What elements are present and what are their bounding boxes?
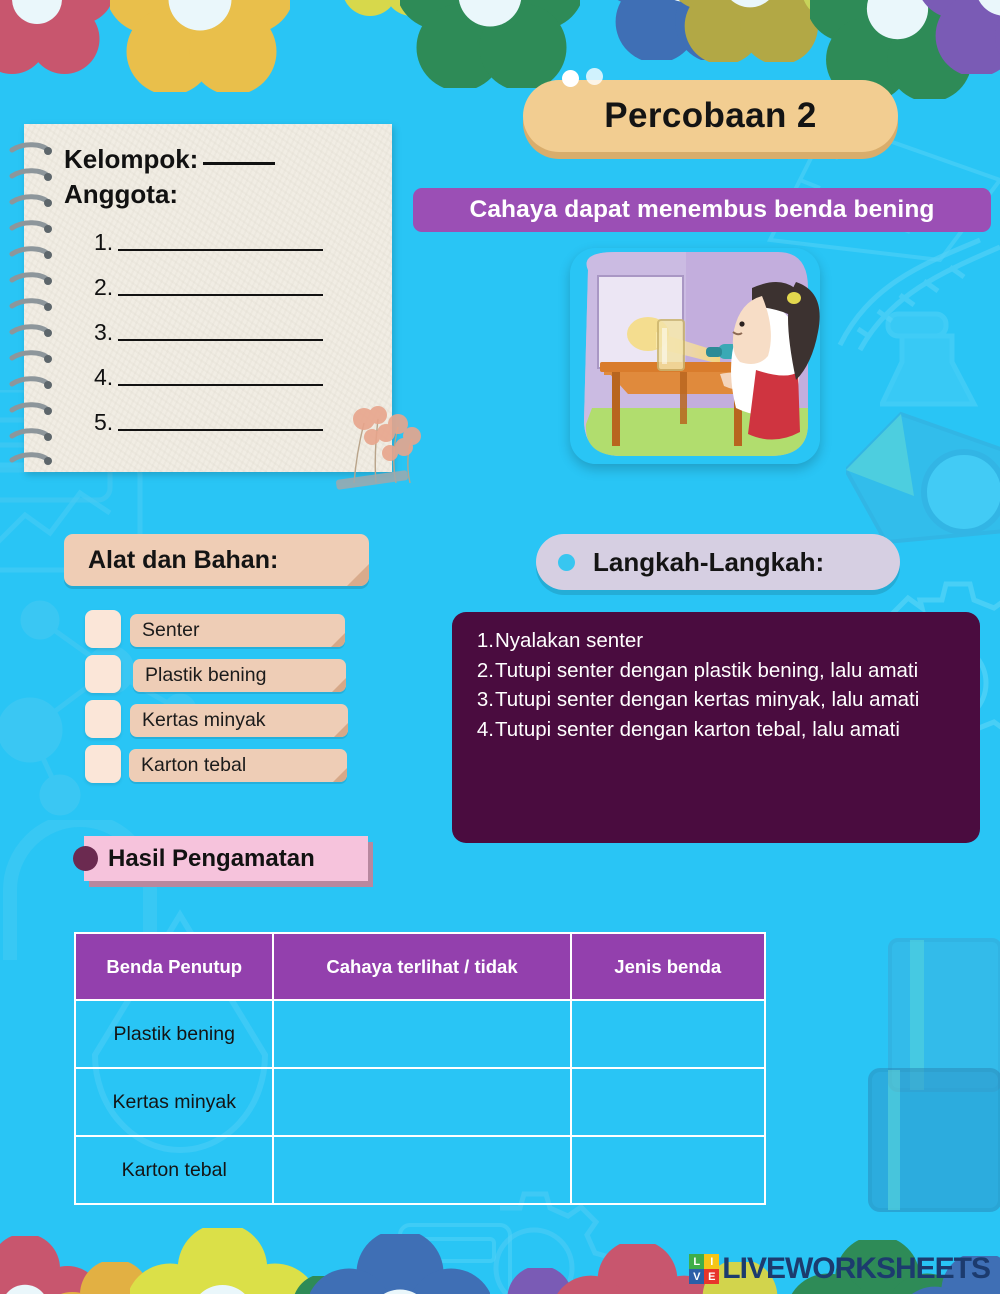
step-text: Tutupi senter dengan plastik bening, lal…	[495, 656, 962, 686]
watermark-notebook-right	[860, 1050, 1000, 1230]
corner-fold-icon	[347, 564, 369, 586]
step-number: 1.	[468, 626, 494, 656]
material-item-kertas-minyak[interactable]: Kertas minyak	[85, 698, 365, 742]
material-label: Karton tebal	[141, 754, 246, 777]
liveworksheets-logo: L I V E LIVEWORKSHEETS	[689, 1252, 990, 1286]
material-label: Plastik bening	[145, 664, 266, 687]
checkbox-icon[interactable]	[85, 745, 121, 783]
cell-jenis-input[interactable]	[571, 1068, 765, 1136]
cell-benda-penutup: Kertas minyak	[75, 1068, 273, 1136]
watermark-calculator-bottom	[390, 1215, 530, 1294]
table-row: Plastik bening	[75, 1000, 765, 1068]
materials-header: Alat dan Bahan:	[64, 534, 369, 586]
step-number: 3.	[468, 685, 494, 715]
table-row: Karton tebal	[75, 1136, 765, 1204]
observation-header-text: Hasil Pengamatan	[108, 845, 315, 873]
checkbox-icon[interactable]	[85, 655, 121, 693]
step-item-1: 1. Nyalakan senter	[468, 626, 962, 656]
dried-flower-decoration	[320, 383, 430, 498]
materials-header-text: Alat dan Bahan:	[88, 546, 278, 575]
watermark-book	[870, 930, 1000, 1110]
page-title: Percobaan 2	[523, 80, 898, 152]
column-header-jenis-benda: Jenis benda	[571, 933, 765, 1000]
observation-table: Benda Penutup Cahaya terlihat / tidak Je…	[74, 932, 766, 1205]
kelompok-blank[interactable]	[203, 162, 275, 165]
member-number-3: 3.	[94, 319, 118, 346]
watermark-gear-bottom	[430, 1190, 640, 1294]
material-item-karton-tebal[interactable]: Karton tebal	[85, 743, 365, 787]
flower-border-top	[0, 0, 1000, 92]
title-decoration-dot-2	[586, 68, 603, 85]
logo-tile-v: V	[689, 1269, 704, 1284]
member-blank-5[interactable]	[118, 429, 323, 431]
member-blank-2[interactable]	[118, 294, 323, 296]
step-number: 2.	[468, 656, 494, 686]
table-row: Kertas minyak	[75, 1068, 765, 1136]
member-number-5: 5.	[94, 409, 118, 436]
steps-header: Langkah-Langkah:	[536, 534, 900, 590]
member-number-4: 4.	[94, 364, 118, 391]
member-blank-3[interactable]	[118, 339, 323, 341]
logo-tile-l: L	[689, 1254, 704, 1269]
material-label: Senter	[142, 619, 199, 642]
material-label-pill: Kertas minyak	[130, 704, 348, 737]
step-text: Tutupi senter dengan kertas minyak, lalu…	[495, 685, 962, 715]
step-text: Nyalakan senter	[495, 626, 962, 656]
cell-cahaya-input[interactable]	[273, 1068, 570, 1136]
checkbox-icon[interactable]	[85, 610, 121, 648]
cell-benda-penutup: Plastik bening	[75, 1000, 273, 1068]
cell-jenis-input[interactable]	[571, 1000, 765, 1068]
material-label-pill: Plastik bening	[133, 659, 346, 692]
member-blank-4[interactable]	[118, 384, 323, 386]
member-number-1: 1.	[94, 229, 118, 256]
cell-benda-penutup: Karton tebal	[75, 1136, 273, 1204]
member-number-2: 2.	[94, 274, 118, 301]
anggota-label-row: Anggota:	[64, 177, 378, 212]
member-blank-1[interactable]	[118, 249, 323, 251]
materials-list: Senter Plastik bening Kertas minyak Kart…	[85, 608, 365, 788]
material-label-pill: Senter	[130, 614, 345, 647]
cell-cahaya-input[interactable]	[273, 1000, 570, 1068]
step-item-2: 2. Tutupi senter dengan plastik bening, …	[468, 656, 962, 686]
steps-header-text: Langkah-Langkah:	[593, 547, 824, 578]
steps-box: 1. Nyalakan senter 2. Tutupi senter deng…	[452, 612, 980, 843]
bullet-circle-icon	[73, 846, 98, 871]
subtitle-text: Cahaya dapat menembus benda bening	[470, 196, 935, 224]
cell-cahaya-input[interactable]	[273, 1136, 570, 1204]
corner-fold-icon	[332, 678, 346, 692]
page-title-text: Percobaan 2	[604, 96, 817, 136]
experiment-illustration	[570, 248, 820, 464]
material-item-plastik-bening[interactable]: Plastik bening	[85, 653, 365, 697]
step-item-3: 3. Tutupi senter dengan kertas minyak, l…	[468, 685, 962, 715]
kelompok-row: Kelompok:	[64, 142, 378, 177]
corner-fold-icon	[333, 768, 347, 782]
worksheet-page: Percobaan 2 Cahaya dapat menembus benda …	[0, 0, 1000, 1294]
kelompok-label: Kelompok:	[64, 144, 198, 174]
material-label-pill: Karton tebal	[129, 749, 347, 782]
member-row-1: 1.	[94, 229, 378, 256]
watermark-dna-helix	[830, 225, 1000, 355]
logo-letter-tiles: L I V E	[689, 1254, 719, 1284]
group-info-notepad: Kelompok: Anggota: 1. 2. 3. 4. 5	[24, 124, 392, 472]
table-header-row: Benda Penutup Cahaya terlihat / tidak Je…	[75, 933, 765, 1000]
logo-tile-e: E	[704, 1269, 719, 1284]
step-number: 4.	[468, 715, 494, 745]
bullet-dot-icon	[558, 554, 575, 571]
subtitle-banner: Cahaya dapat menembus benda bening	[413, 188, 991, 232]
column-header-cahaya: Cahaya terlihat / tidak	[273, 933, 570, 1000]
member-row-2: 2.	[94, 274, 378, 301]
corner-fold-icon	[334, 723, 348, 737]
column-header-benda-penutup: Benda Penutup	[75, 933, 273, 1000]
anggota-label: Anggota:	[64, 179, 178, 209]
material-label: Kertas minyak	[142, 709, 266, 732]
member-row-3: 3.	[94, 319, 378, 346]
watermark-flask	[880, 300, 1000, 470]
notepad-spiral-binding	[6, 140, 58, 470]
observation-header: Hasil Pengamatan	[84, 836, 368, 881]
corner-fold-icon	[331, 633, 345, 647]
logo-tile-i: I	[704, 1254, 719, 1269]
title-decoration-dot-1	[562, 70, 579, 87]
material-item-senter[interactable]: Senter	[85, 608, 365, 652]
cell-jenis-input[interactable]	[571, 1136, 765, 1204]
logo-wordmark: LIVEWORKSHEETS	[722, 1252, 990, 1286]
step-text: Tutupi senter dengan karton tebal, lalu …	[495, 715, 962, 745]
checkbox-icon[interactable]	[85, 700, 121, 738]
step-item-4: 4. Tutupi senter dengan karton tebal, la…	[468, 715, 962, 745]
